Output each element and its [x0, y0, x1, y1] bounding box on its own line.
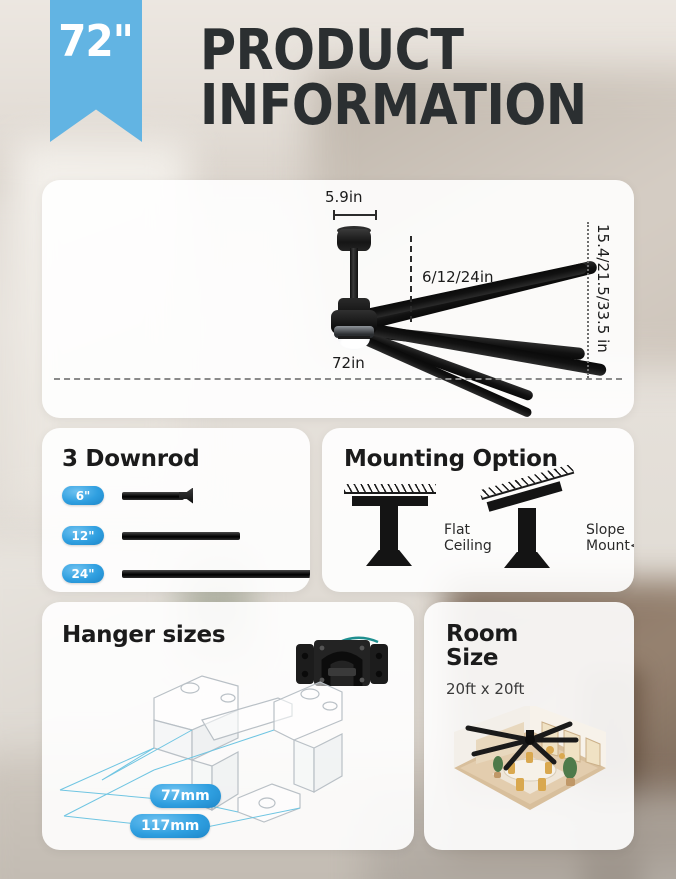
product-information-infographic: 72" PRODUCT INFORMATION 5.9in — [0, 0, 676, 879]
room-panel-title-line2: Size — [446, 645, 498, 671]
hanger-sizes-panel: Hanger sizes — [42, 602, 414, 850]
downrod-panel-title: 3 Downrod — [62, 446, 199, 472]
downrod-badge-6: 6" — [62, 486, 104, 505]
downrod-badge-24: 24" — [62, 564, 104, 583]
downrod-rod-24 — [122, 570, 310, 578]
canopy-dim-tick-right — [375, 210, 377, 220]
fan-diagram: 5.9in 6/12/24in 72in — [42, 180, 634, 418]
size-ribbon-label: 72" — [59, 16, 134, 67]
slope-mount-label: Slope Mount<12° — [586, 522, 634, 554]
downrod-rod-6 — [122, 492, 184, 500]
downrod-item-24: 24" — [62, 564, 310, 583]
flat-ceiling-label-line1: Flat — [444, 522, 470, 538]
size-ribbon-badge: 72" — [50, 0, 142, 142]
fan-dimensions-panel: 5.9in 6/12/24in 72in — [42, 180, 634, 418]
hanger-dimension-badge-77mm: 77mm — [150, 784, 221, 808]
mounting-panel-title: Mounting Option — [344, 446, 558, 472]
page-title: PRODUCT INFORMATION — [200, 24, 587, 134]
canopy-dim-line — [333, 214, 377, 216]
room-render-image — [446, 706, 612, 826]
room-panel-title: Room Size — [446, 622, 518, 670]
downrod-panel: 3 Downrod 6" 12" 24" — [42, 428, 310, 592]
total-height-label: 15.4/21.5/33.5 in — [594, 224, 612, 353]
downrod-length-label: 6/12/24in — [422, 268, 494, 286]
room-size-panel: Room Size 20ft x 20ft — [424, 602, 634, 850]
blade-span-dim-line — [54, 378, 622, 380]
total-height-dim-line — [587, 222, 589, 378]
downrod-ball-joint-6 — [179, 488, 193, 504]
canopy-dim-tick-left — [333, 210, 335, 220]
downrod-item-12: 12" — [62, 526, 240, 545]
downrod-badge-12: 12" — [62, 526, 104, 545]
slope-mount-label-line1: Slope — [586, 522, 625, 538]
room-size-value: 20ft x 20ft — [446, 680, 524, 698]
mounting-option-panel: Mounting Option Flat Ceiling Slope Mount… — [322, 428, 634, 592]
downrod-dim-line — [410, 236, 412, 322]
hanger-wireframe-drawing — [42, 602, 414, 850]
hanger-dimension-badge-117mm: 117mm — [130, 814, 210, 838]
blade-span-label: 72in — [332, 354, 365, 372]
room-panel-title-line1: Room — [446, 621, 518, 647]
canopy-width-label: 5.9in — [325, 188, 363, 206]
slope-mount-label-line2: Mount<12° — [586, 538, 634, 554]
header: 72" PRODUCT INFORMATION — [0, 0, 676, 172]
page-title-line2: INFORMATION — [200, 79, 587, 134]
downrod-item-6: 6" — [62, 486, 184, 505]
downrod-rod-12 — [122, 532, 240, 540]
fan-light-kit — [338, 336, 370, 350]
